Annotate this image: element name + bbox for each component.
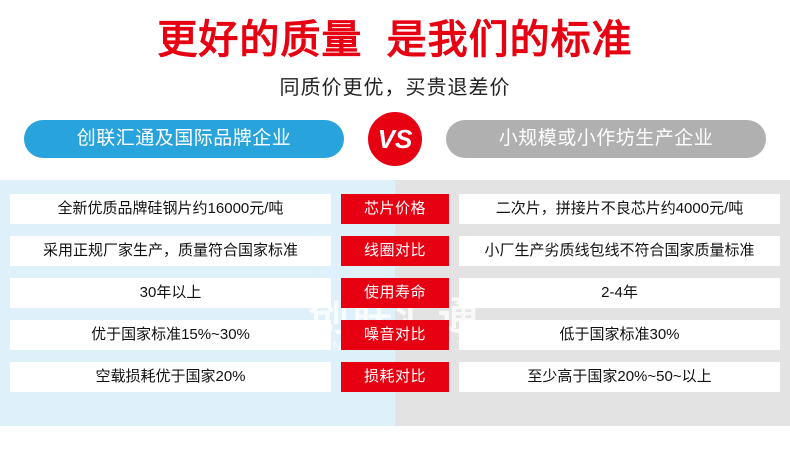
table-row: 空载损耗优于国家20% 损耗对比 至少高于国家20%~50~以上: [10, 362, 780, 392]
page-title: 更好的质量 是我们的标准: [0, 0, 790, 63]
vs-right-label: 小规模或小作坊生产企业: [446, 120, 766, 158]
vs-left-label: 创联汇通及国际品牌企业: [24, 120, 344, 158]
row-left-value: 优于国家标准15%~30%: [10, 320, 331, 350]
row-left-value: 全新优质品牌硅钢片约16000元/吨: [10, 194, 331, 224]
page-subtitle: 同质价更优，买贵退差价: [0, 71, 790, 100]
row-left-value: 采用正规厂家生产，质量符合国家标准: [10, 236, 331, 266]
row-label: 线圈对比: [341, 236, 449, 266]
row-left-value: 空载损耗优于国家20%: [10, 362, 331, 392]
comparison-panel: 创联汇通 CHUANGLIANHUITONG 全新优质品牌硅钢片约16000元/…: [0, 180, 790, 426]
table-row: 全新优质品牌硅钢片约16000元/吨 芯片价格 二次片，拼接片不良芯片约4000…: [10, 194, 780, 224]
row-left-value: 30年以上: [10, 278, 331, 308]
comparison-rows: 全新优质品牌硅钢片约16000元/吨 芯片价格 二次片，拼接片不良芯片约4000…: [0, 180, 790, 392]
vs-row: 创联汇通及国际品牌企业 VS 小规模或小作坊生产企业: [0, 110, 790, 168]
vs-badge: VS: [368, 112, 422, 166]
row-label: 噪音对比: [341, 320, 449, 350]
table-row: 采用正规厂家生产，质量符合国家标准 线圈对比 小厂生产劣质线包线不符合国家质量标…: [10, 236, 780, 266]
row-right-value: 至少高于国家20%~50~以上: [459, 362, 780, 392]
table-row: 30年以上 使用寿命 2-4年: [10, 278, 780, 308]
promo-banner: 更好的质量 是我们的标准 同质价更优，买贵退差价 创联汇通及国际品牌企业 VS …: [0, 0, 790, 464]
row-label: 芯片价格: [341, 194, 449, 224]
row-right-value: 小厂生产劣质线包线不符合国家质量标准: [459, 236, 780, 266]
row-label: 损耗对比: [341, 362, 449, 392]
row-right-value: 低于国家标准30%: [459, 320, 780, 350]
row-label: 使用寿命: [341, 278, 449, 308]
table-row: 优于国家标准15%~30% 噪音对比 低于国家标准30%: [10, 320, 780, 350]
row-right-value: 2-4年: [459, 278, 780, 308]
row-right-value: 二次片，拼接片不良芯片约4000元/吨: [459, 194, 780, 224]
